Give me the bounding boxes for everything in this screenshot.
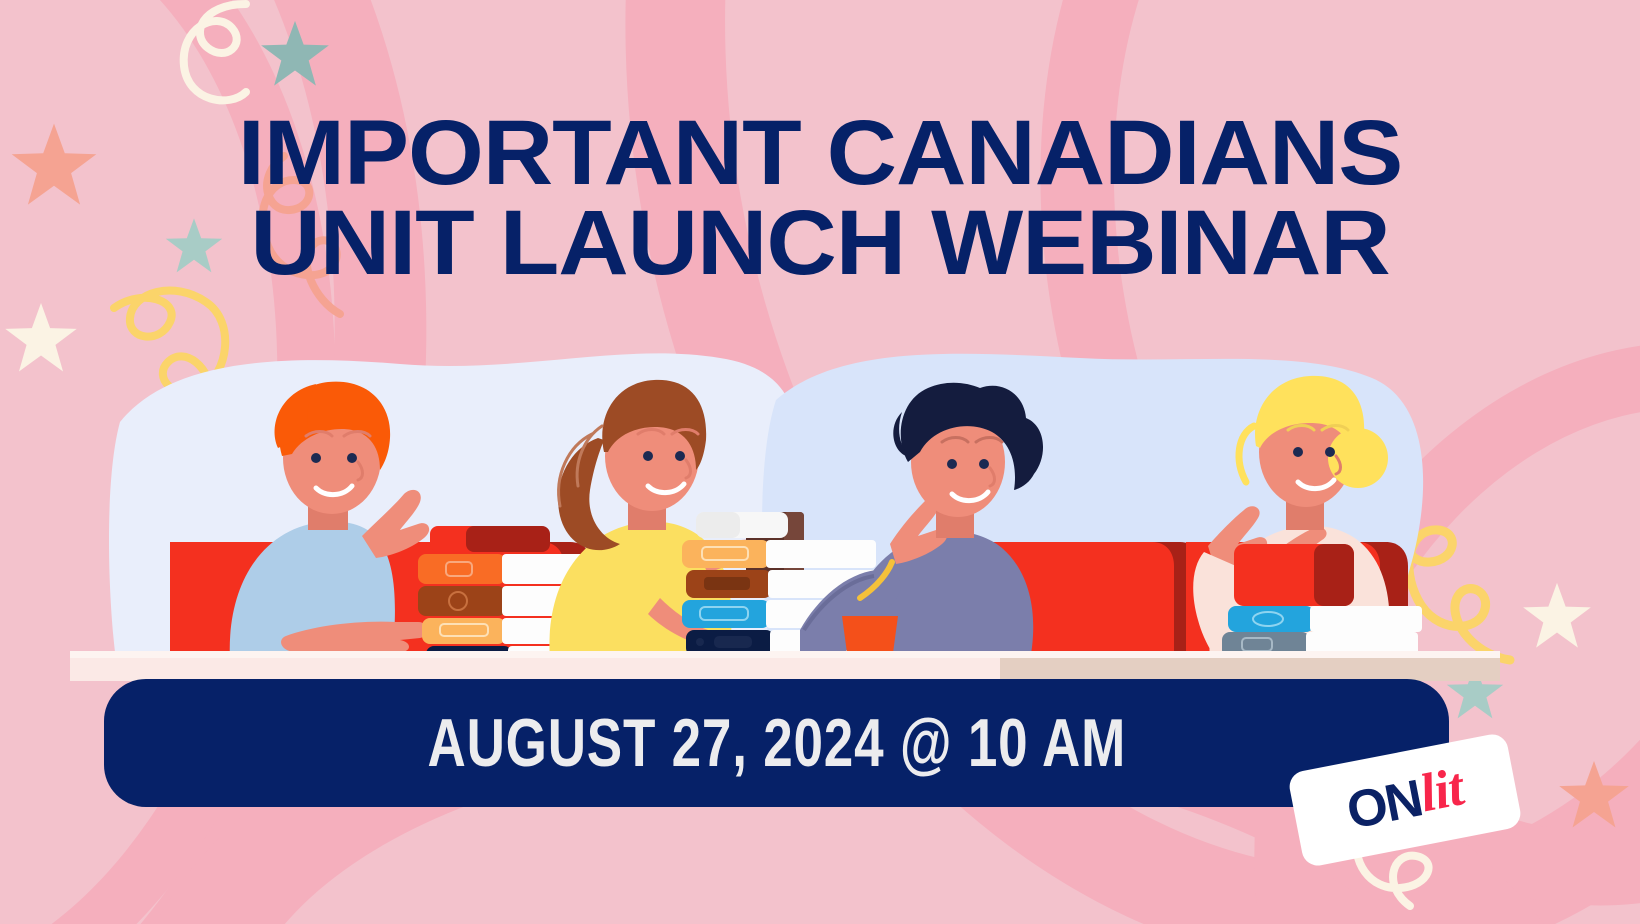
page-title: IMPORTANT CANADIANS UNIT LAUNCH WEBINAR (0, 108, 1640, 288)
onlit-logo-inner: ON lit (1342, 758, 1469, 841)
poster-canvas: IMPORTANT CANADIANS UNIT LAUNCH WEBINAR (0, 0, 1640, 924)
table-edge-highlight (70, 651, 1500, 658)
event-date-text: AUGUST 27, 2024 @ 10 AM (427, 704, 1126, 782)
star-cream-left-icon (2, 300, 80, 376)
event-date-banner: AUGUST 27, 2024 @ 10 AM (104, 679, 1449, 807)
onlit-logo-on: ON (1342, 769, 1426, 842)
webinar-illustration (100, 330, 1520, 690)
star-salmon-bottom-right-icon (1556, 758, 1632, 832)
